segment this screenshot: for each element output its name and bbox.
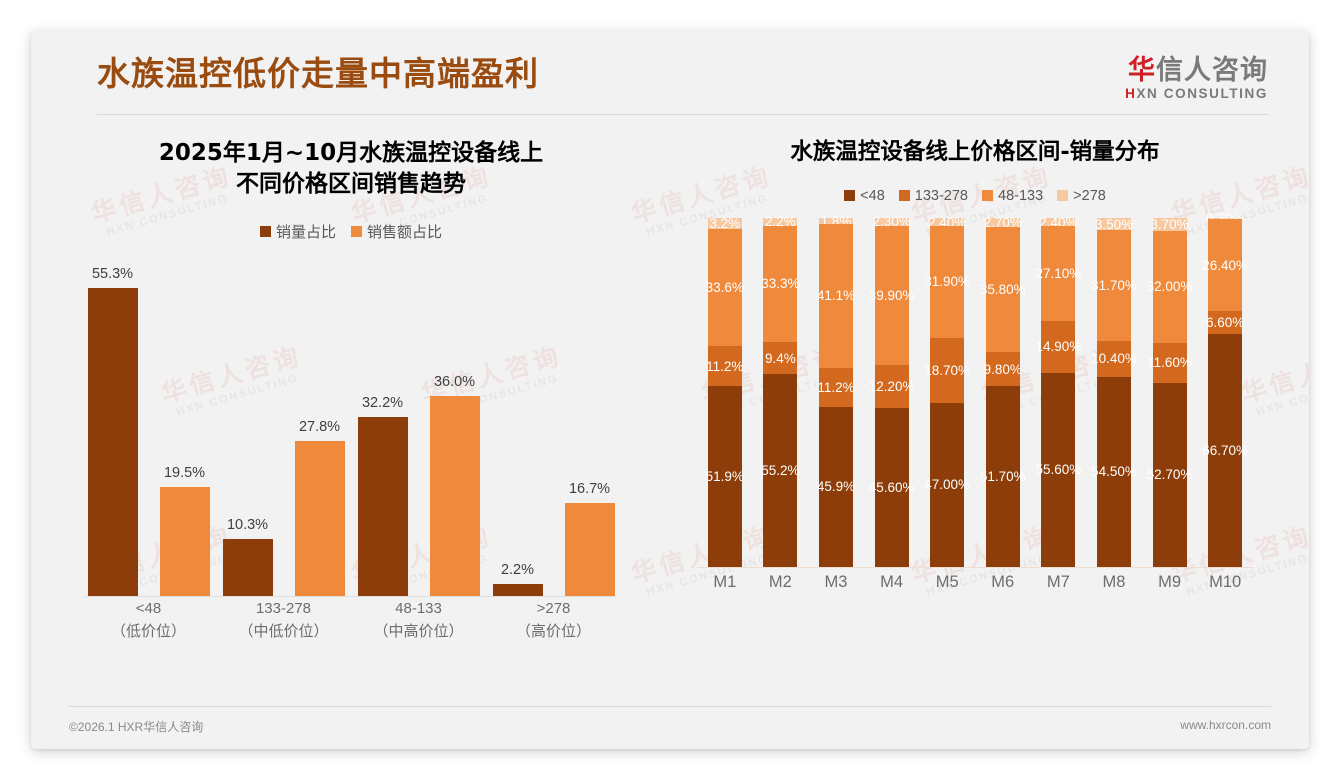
stacked-segment-48-133: 32.00% [1153, 231, 1187, 343]
segment-value-label: 45.60% [869, 480, 915, 495]
legend-label: 48-133 [998, 188, 1043, 204]
segment-value-label: 51.9% [706, 469, 744, 484]
left-chart-title-line2: 不同价格区间销售趋势 [61, 169, 641, 200]
segment-value-label: 31.90% [924, 274, 970, 289]
legend-swatch-icon [1057, 190, 1068, 201]
legend-label: 销量占比 [276, 221, 336, 242]
stacked-segment-<48: 45.9% [819, 407, 853, 567]
footer-copyright: ©2026.1 HXR华信人咨询 [69, 718, 203, 735]
segment-value-label: 26.40% [1202, 258, 1248, 273]
x-tick-label-M8: M8 [1086, 573, 1142, 592]
stacked-bar-chart: 3.2%33.6%11.2%51.9%2.2%33.3%9.4%55.2%1.8… [697, 218, 1253, 568]
slide-body: 2025年1月~10月水族温控设备线上 不同价格区间销售趋势 销量占比销售额占比… [31, 114, 1309, 706]
bar-销量占比->278[interactable]: 2.2% [493, 252, 543, 596]
bar-value-label: 36.0% [434, 374, 475, 390]
segment-value-label: 10.40% [1091, 351, 1137, 366]
stacked-bar: 1.8%41.1%11.2%45.9% [819, 218, 853, 567]
segment-value-label: 41.1% [817, 288, 855, 303]
stacked-bar-column-M1[interactable]: 3.2%33.6%11.2%51.9% [697, 218, 753, 567]
stacked-segment->278: 2.40% [1041, 218, 1075, 226]
chart-panel-left: 2025年1月~10月水族温控设备线上 不同价格区间销售趋势 销量占比销售额占比… [31, 114, 641, 706]
left-chart-x-axis [85, 596, 617, 597]
slide-footer: ©2026.1 HXR华信人咨询 www.hxrcon.com [31, 706, 1309, 749]
stacked-segment-48-133: 31.70% [1097, 230, 1131, 341]
stacked-bar: 3.2%33.6%11.2%51.9% [708, 218, 742, 567]
left-chart-legend: 销量占比销售额占比 [61, 221, 641, 242]
legend-item-48-133[interactable]: 48-133 [982, 188, 1043, 204]
bar-group-133-278: 10.3%27.8% [216, 252, 351, 596]
x-tick-label-M5: M5 [919, 573, 975, 592]
bar-value-label: 55.3% [92, 266, 133, 282]
x-tick-range: >278 [486, 598, 621, 621]
chart-panel-right: 水族温控设备线上价格区间-销量分布 <48133-27848-133>278 3… [641, 114, 1309, 706]
stacked-bar-plot-area: 3.2%33.6%11.2%51.9%2.2%33.3%9.4%55.2%1.8… [697, 218, 1253, 567]
x-tick-label-M9: M9 [1142, 573, 1198, 592]
segment-value-label: 47.00% [924, 477, 970, 492]
bar-group-48-133: 32.2%36.0% [351, 252, 486, 596]
segment-value-label: 51.70% [980, 469, 1026, 484]
footer-website[interactable]: www.hxrcon.com [1180, 718, 1271, 732]
x-tick-sublabel: （中低价位） [216, 621, 351, 644]
stacked-segment-<48: 55.60% [1041, 373, 1075, 567]
x-tick-range: <48 [81, 598, 216, 621]
bar-rect [295, 441, 345, 596]
x-tick-range: 48-133 [351, 598, 486, 621]
segment-value-label: 39.90% [869, 288, 915, 303]
stacked-segment-<48: 54.50% [1097, 377, 1131, 567]
stacked-segment->278: 3.70% [1153, 218, 1187, 231]
x-tick-range: 133-278 [216, 598, 351, 621]
stacked-segment-<48: 47.00% [930, 403, 964, 567]
stacked-segment-<48: 45.60% [875, 408, 909, 567]
segment-value-label: 11.2% [817, 380, 854, 395]
x-tick-sublabel: （高价位） [486, 621, 621, 644]
stacked-bar: 3.70%32.00%11.60%52.70% [1153, 218, 1187, 567]
segment-value-label: 52.70% [1147, 467, 1193, 482]
stacked-segment-<48: 52.70% [1153, 383, 1187, 567]
stacked-bar-column-M10[interactable]: 0.30%26.40%6.60%66.70% [1197, 218, 1253, 567]
stacked-bar-column-M4[interactable]: 2.30%39.90%12.20%45.60% [864, 218, 920, 567]
stacked-bar: 3.50%31.70%10.40%54.50% [1097, 218, 1131, 567]
legend-swatch-icon [899, 190, 910, 201]
bar-rect [88, 288, 138, 596]
stacked-bar-column-M8[interactable]: 3.50%31.70%10.40%54.50% [1086, 218, 1142, 567]
bar-rect [430, 396, 480, 596]
bar-rect [358, 417, 408, 596]
right-chart-x-labels: M1M2M3M4M5M6M7M8M9M10 [697, 573, 1253, 592]
legend-label: 销售额占比 [367, 221, 442, 242]
slide-header: 水族温控低价走量中高端盈利 华信人咨询 HXN CONSULTING [31, 31, 1309, 114]
bar-rect [160, 487, 210, 596]
stacked-segment-48-133: 39.90% [875, 226, 909, 365]
stacked-segment-133-278: 18.70% [930, 338, 964, 403]
stacked-segment->278: 3.2% [708, 218, 742, 229]
stacked-segment-48-133: 33.3% [763, 226, 797, 342]
bar-group-<48: 55.3%19.5% [81, 252, 216, 596]
legend-label: >278 [1073, 188, 1106, 204]
bar-销售额占比-<48[interactable]: 19.5% [160, 252, 210, 596]
x-tick-sublabel: （中高价位） [351, 621, 486, 644]
bar-value-label: 32.2% [362, 395, 403, 411]
page-title: 水族温控低价走量中高端盈利 [97, 47, 539, 95]
bar-value-label: 19.5% [164, 465, 205, 481]
stacked-segment->278: 2.70% [986, 218, 1020, 227]
segment-value-label: 12.20% [869, 379, 915, 394]
stacked-segment-133-278: 12.20% [875, 365, 909, 408]
stacked-segment->278: 2.2% [763, 218, 797, 226]
left-chart-title-line1: 2025年1月~10月水族温控设备线上 [61, 138, 641, 169]
left-chart-x-labels: <48（低价位）133-278（中低价位）48-133（中高价位）>278（高价… [81, 598, 621, 643]
legend-item-销售额占比[interactable]: 销售额占比 [351, 221, 442, 242]
segment-value-label: 3.70% [1150, 217, 1188, 232]
bar-销售额占比-48-133[interactable]: 36.0% [430, 252, 480, 596]
stacked-segment-133-278: 14.90% [1041, 321, 1075, 373]
bar-销量占比-48-133[interactable]: 32.2% [358, 252, 408, 596]
legend-item-销量占比[interactable]: 销量占比 [260, 221, 336, 242]
segment-value-label: 9.4% [765, 351, 796, 366]
bar-rect [493, 584, 543, 596]
legend-item->278[interactable]: >278 [1057, 188, 1106, 204]
segment-value-label: 66.70% [1202, 443, 1248, 458]
stacked-bar: 0.30%26.40%6.60%66.70% [1208, 218, 1242, 567]
x-tick-label->278: >278（高价位） [486, 598, 621, 643]
legend-label: 133-278 [915, 188, 968, 204]
segment-value-label: 45.9% [817, 479, 855, 494]
segment-value-label: 55.2% [761, 463, 799, 478]
segment-value-label: 6.60% [1206, 315, 1244, 330]
stacked-bar: 2.40%27.10%14.90%55.60% [1041, 218, 1075, 567]
stacked-segment-48-133: 31.90% [930, 226, 964, 337]
bar-销量占比-133-278[interactable]: 10.3% [223, 252, 273, 596]
stacked-segment-133-278: 9.4% [763, 342, 797, 375]
stacked-segment-133-278: 10.40% [1097, 341, 1131, 377]
legend-swatch-icon [351, 226, 362, 237]
stacked-segment-48-133: 41.1% [819, 224, 853, 367]
stacked-bar-column-M3[interactable]: 1.8%41.1%11.2%45.9% [808, 218, 864, 567]
stacked-bar: 2.30%39.90%12.20%45.60% [875, 218, 909, 567]
legend-swatch-icon [844, 190, 855, 201]
stacked-segment-48-133: 27.10% [1041, 226, 1075, 321]
stacked-segment->278: 3.50% [1097, 218, 1131, 230]
stacked-segment-133-278: 11.60% [1153, 343, 1187, 383]
slide-canvas: 华信人咨询HXN CONSULTING华信人咨询HXN CONSULTING华信… [31, 31, 1309, 749]
bar-value-label: 16.7% [569, 481, 610, 497]
legend-item-<48[interactable]: <48 [844, 188, 885, 204]
logo-h-char: H [1125, 86, 1136, 101]
grouped-bar-plot-area: 55.3%19.5%10.3%27.8%32.2%36.0%2.2%16.7% [81, 252, 621, 596]
logo-english-rest: XN CONSULTING [1136, 86, 1268, 101]
segment-value-label: 55.60% [1035, 462, 1081, 477]
x-tick-sublabel: （低价位） [81, 621, 216, 644]
x-tick-label-M6: M6 [975, 573, 1031, 592]
segment-value-label: 11.2% [706, 359, 743, 374]
stacked-bar-column-M5[interactable]: 2.40%31.90%18.70%47.00% [919, 218, 975, 567]
stacked-segment-48-133: 33.6% [708, 229, 742, 346]
stacked-segment->278: 2.40% [930, 218, 964, 226]
stacked-segment-133-278: 11.2% [819, 368, 853, 407]
right-chart-title: 水族温控设备线上价格区间-销量分布 [641, 114, 1309, 168]
bar-value-label: 27.8% [299, 419, 340, 435]
logo-english: HXN CONSULTING [1125, 86, 1268, 101]
bar-rect [223, 539, 273, 596]
x-tick-label-M3: M3 [808, 573, 864, 592]
stacked-bar-column-M7[interactable]: 2.40%27.10%14.90%55.60% [1031, 218, 1087, 567]
segment-value-label: 32.00% [1147, 279, 1193, 294]
legend-swatch-icon [260, 226, 271, 237]
segment-value-label: 33.6% [706, 280, 744, 295]
stacked-bar: 2.2%33.3%9.4%55.2% [763, 218, 797, 567]
logo-chinese-rest: 信人咨询 [1156, 55, 1268, 85]
stacked-segment-133-278: 9.80% [986, 352, 1020, 386]
stacked-bar-column-M2[interactable]: 2.2%33.3%9.4%55.2% [753, 218, 809, 567]
brand-logo: 华信人咨询 HXN CONSULTING [1125, 56, 1268, 101]
stacked-segment-48-133: 35.80% [986, 227, 1020, 352]
bar-value-label: 10.3% [227, 517, 268, 533]
segment-value-label: 11.60% [1147, 355, 1192, 370]
logo-hua-char: 华 [1128, 55, 1156, 85]
stacked-segment-48-133: 26.40% [1208, 219, 1242, 311]
left-chart-title: 2025年1月~10月水族温控设备线上 不同价格区间销售趋势 [61, 114, 641, 199]
x-tick-label-48-133: 48-133（中高价位） [351, 598, 486, 643]
legend-swatch-icon [982, 190, 993, 201]
stacked-segment-<48: 51.9% [708, 386, 742, 567]
stacked-segment-133-278: 6.60% [1208, 311, 1242, 334]
bar-销量占比-<48[interactable]: 55.3% [88, 252, 138, 596]
segment-value-label: 27.10% [1035, 266, 1081, 281]
x-tick-label-M4: M4 [864, 573, 920, 592]
legend-label: <48 [860, 188, 885, 204]
segment-value-label: 35.80% [980, 282, 1026, 297]
x-tick-label-<48: <48（低价位） [81, 598, 216, 643]
segment-value-label: 14.90% [1035, 339, 1081, 354]
grouped-bar-chart: 55.3%19.5%10.3%27.8%32.2%36.0%2.2%16.7% … [81, 252, 621, 597]
stacked-segment-<48: 55.2% [763, 374, 797, 566]
x-tick-label-M7: M7 [1031, 573, 1087, 592]
stacked-segment-<48: 51.70% [986, 386, 1020, 566]
segment-value-label: 18.70% [924, 363, 970, 378]
stacked-segment-133-278: 11.2% [708, 346, 742, 385]
x-tick-label-M10: M10 [1197, 573, 1253, 592]
bar-group->278: 2.2%16.7% [486, 252, 621, 596]
right-chart-x-axis [697, 567, 1253, 568]
stacked-segment-<48: 66.70% [1208, 334, 1242, 567]
stacked-segment->278: 2.30% [875, 218, 909, 226]
x-tick-label-M2: M2 [753, 573, 809, 592]
bar-销售额占比->278[interactable]: 16.7% [565, 252, 615, 596]
segment-value-label: 9.80% [984, 362, 1022, 377]
logo-chinese: 华信人咨询 [1125, 56, 1268, 84]
segment-value-label: 31.70% [1091, 278, 1137, 293]
right-chart-legend: <48133-27848-133>278 [641, 188, 1309, 204]
legend-item-133-278[interactable]: 133-278 [899, 188, 968, 204]
footer-divider [69, 706, 1271, 707]
stacked-bar: 2.40%31.90%18.70%47.00% [930, 218, 964, 567]
x-tick-label-M1: M1 [697, 573, 753, 592]
stacked-bar-column-M9[interactable]: 3.70%32.00%11.60%52.70% [1142, 218, 1198, 567]
segment-value-label: 54.50% [1091, 464, 1137, 479]
stacked-bar-column-M6[interactable]: 2.70%35.80%9.80%51.70% [975, 218, 1031, 567]
bar-value-label: 2.2% [501, 562, 534, 578]
x-tick-label-133-278: 133-278（中低价位） [216, 598, 351, 643]
bar-销售额占比-133-278[interactable]: 27.8% [295, 252, 345, 596]
segment-value-label: 33.3% [761, 276, 799, 291]
stacked-bar: 2.70%35.80%9.80%51.70% [986, 218, 1020, 567]
bar-rect [565, 503, 615, 596]
